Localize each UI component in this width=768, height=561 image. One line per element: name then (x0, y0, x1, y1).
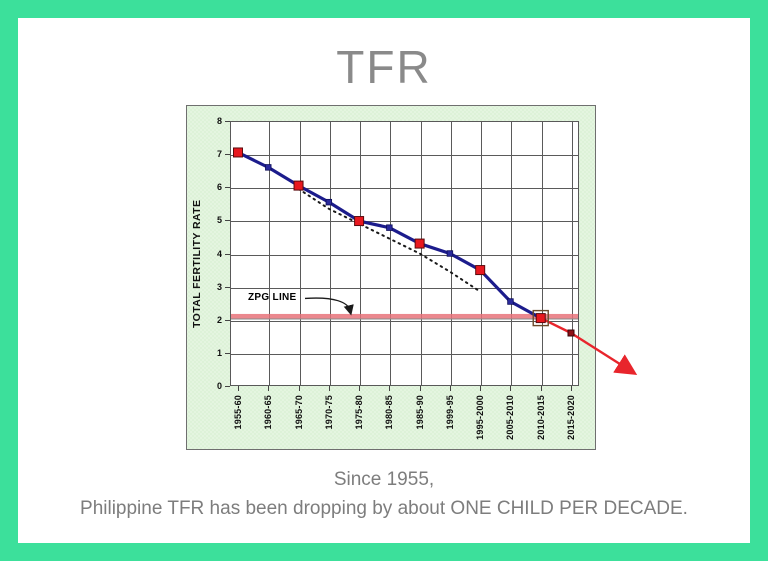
slide-content-area: TFR TOTAL FERTILITY RATE 012345678 1955-… (18, 18, 750, 543)
gridline-vertical (451, 122, 452, 385)
caption-line-2: Philippine TFR has been dropping by abou… (18, 494, 750, 523)
caption: Since 1955, Philippine TFR has been drop… (18, 465, 750, 523)
gridline-vertical (421, 122, 422, 385)
gridline-horizontal (231, 321, 578, 322)
x-axis-tick-label: 2015-2020 (566, 395, 576, 440)
x-axis-tick-mark (420, 386, 421, 391)
gridline-vertical (330, 122, 331, 385)
caption-line-1: Since 1955, (18, 465, 750, 494)
x-axis-tick-mark (268, 386, 269, 391)
x-axis-tick-mark (510, 386, 511, 391)
y-axis-tick-label: 4 (194, 249, 222, 259)
x-axis-tick-mark (359, 386, 360, 391)
x-axis-tick-label: 1960-65 (263, 395, 273, 429)
y-axis-tick-label: 2 (194, 315, 222, 325)
gridline-vertical (300, 122, 301, 385)
tfr-chart: TOTAL FERTILITY RATE 012345678 1955-6019… (186, 105, 596, 450)
x-axis-tick-label: 2005-2010 (505, 395, 515, 440)
y-axis-tick-label: 8 (194, 116, 222, 126)
y-axis-tick-label: 3 (194, 282, 222, 292)
gridline-horizontal (231, 354, 578, 355)
y-axis-tick-mark (225, 254, 230, 255)
x-axis-tick-label: 1985-90 (415, 395, 425, 429)
x-axis-tick-mark (480, 386, 481, 391)
x-axis-tick-mark (541, 386, 542, 391)
y-axis-tick-mark (225, 320, 230, 321)
gridline-vertical (269, 122, 270, 385)
slide-frame: TFR TOTAL FERTILITY RATE 012345678 1955-… (0, 0, 768, 561)
gridline-horizontal (231, 288, 578, 289)
y-axis-tick-label: 0 (194, 381, 222, 391)
gridline-horizontal (231, 155, 578, 156)
y-axis-tick-mark (225, 121, 230, 122)
gridline-vertical (360, 122, 361, 385)
x-axis-tick-label: 1995-2000 (475, 395, 485, 440)
y-axis-tick-label: 5 (194, 215, 222, 225)
gridline-vertical (572, 122, 573, 385)
x-axis-tick-mark (450, 386, 451, 391)
x-axis-tick-label: 1980-85 (384, 395, 394, 429)
x-axis-tick-label: 1975-80 (354, 395, 364, 429)
y-axis-tick-label: 1 (194, 348, 222, 358)
y-axis-tick-mark (225, 187, 230, 188)
x-axis-tick-label: 1999-95 (445, 395, 455, 429)
zpg-line-label: ZPG LINE (248, 292, 297, 303)
plot-area (230, 121, 579, 386)
y-axis-tick-mark (225, 154, 230, 155)
x-axis-tick-mark (299, 386, 300, 391)
x-axis-tick-label: 1965-70 (294, 395, 304, 429)
y-axis-tick-mark (225, 353, 230, 354)
y-axis-tick-mark (225, 386, 230, 387)
gridline-vertical (542, 122, 543, 385)
x-axis-tick-mark (571, 386, 572, 391)
gridline-horizontal (231, 188, 578, 189)
x-axis-tick-mark (238, 386, 239, 391)
gridline-vertical (481, 122, 482, 385)
x-axis-tick-mark (329, 386, 330, 391)
y-axis-tick-mark (225, 220, 230, 221)
y-axis-tick-label: 7 (194, 149, 222, 159)
x-axis-tick-label: 2010-2015 (536, 395, 546, 440)
x-axis-tick-label: 1955-60 (233, 395, 243, 429)
gridline-horizontal (231, 221, 578, 222)
y-axis-tick-label: 6 (194, 182, 222, 192)
gridline-vertical (511, 122, 512, 385)
page-title: TFR (18, 40, 750, 94)
gridline-horizontal (231, 255, 578, 256)
x-axis-tick-mark (389, 386, 390, 391)
gridline-vertical (390, 122, 391, 385)
y-axis-tick-mark (225, 287, 230, 288)
x-axis-tick-label: 1970-75 (324, 395, 334, 429)
